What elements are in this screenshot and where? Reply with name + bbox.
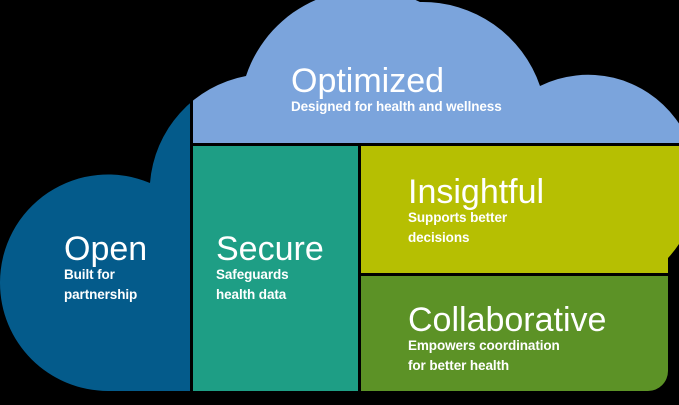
- cloud-panels-group: [0, 0, 679, 405]
- panel-subtitle-secure-line-1: Safeguards: [216, 267, 289, 282]
- panel-title-collaborative: Collaborative: [408, 301, 606, 339]
- panel-title-open: Open: [64, 230, 147, 268]
- panel-subtitle-collaborative-line-2: for better health: [408, 358, 509, 373]
- panel-title-secure: Secure: [216, 230, 324, 268]
- panel-subtitle-collaborative-line-1: Empowers coordination: [408, 338, 560, 353]
- panel-fill-open: [0, 0, 190, 405]
- panel-subtitle-open-line-1: Built for: [64, 267, 116, 282]
- panel-title-insightful: Insightful: [408, 173, 544, 211]
- cloud-diagram-svg: Open Built for partnership Optimized Des…: [0, 0, 679, 405]
- panel-subtitle-insightful-line-1: Supports better: [408, 210, 508, 225]
- panel-subtitle-insightful-line-2: decisions: [408, 230, 469, 245]
- panel-title-optimized: Optimized: [291, 62, 444, 100]
- panel-subtitle-secure-line-2: health data: [216, 287, 287, 302]
- panel-subtitle-open-line-2: partnership: [64, 287, 137, 302]
- panel-label-open: Open Built for partnership: [64, 230, 147, 302]
- panel-subtitle-optimized-line-1: Designed for health and wellness: [291, 99, 502, 114]
- cloud-capabilities-diagram: Open Built for partnership Optimized Des…: [0, 0, 679, 405]
